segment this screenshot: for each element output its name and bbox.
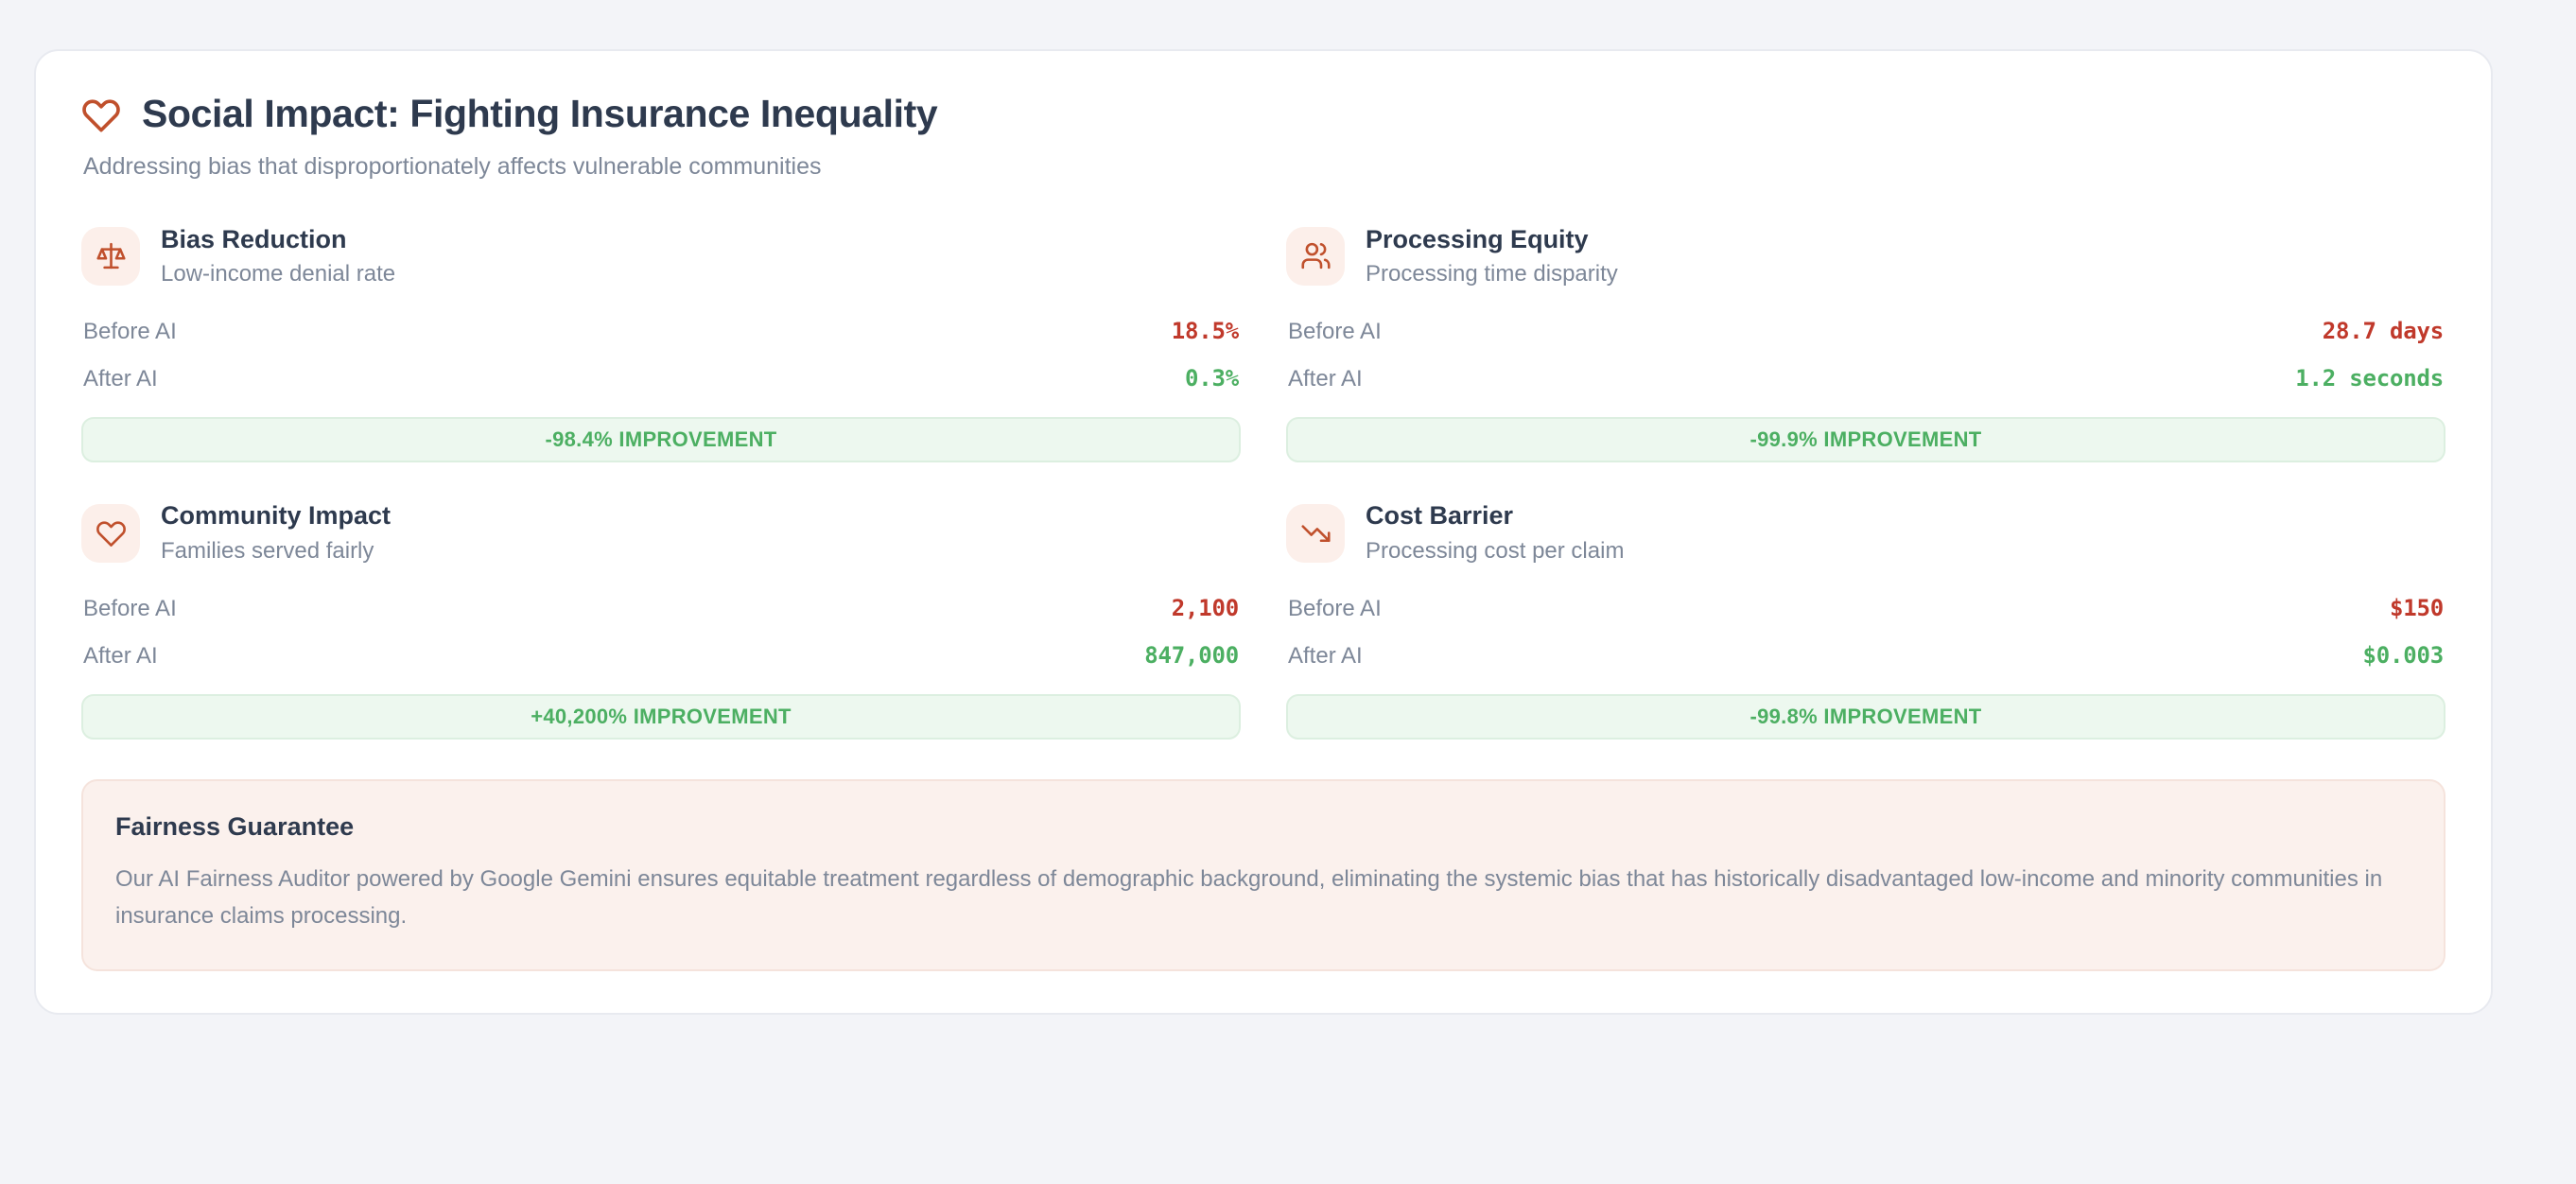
metric-row-before: Before AI 18.5% bbox=[81, 313, 1241, 350]
metric-card-processing-equity: Processing Equity Processing time dispar… bbox=[1286, 224, 2445, 463]
metric-title: Bias Reduction bbox=[161, 225, 395, 255]
metric-title: Community Impact bbox=[161, 501, 391, 531]
users-icon bbox=[1300, 240, 1332, 271]
metric-header: Cost Barrier Processing cost per claim bbox=[1286, 500, 2445, 566]
panel-header: Social Impact: Fighting Insurance Inequa… bbox=[81, 93, 2445, 135]
improvement-badge: +40,200% IMPROVEMENT bbox=[81, 694, 1241, 740]
metric-row-after: After AI 0.3% bbox=[81, 360, 1241, 397]
improvement-badge: -99.9% IMPROVEMENT bbox=[1286, 417, 2445, 462]
before-label: Before AI bbox=[1288, 319, 1382, 345]
metric-row-before: Before AI $150 bbox=[1286, 590, 2445, 627]
social-impact-panel: Social Impact: Fighting Insurance Inequa… bbox=[34, 49, 2493, 1015]
trending-down-icon bbox=[1300, 517, 1332, 548]
metric-subtitle: Processing cost per claim bbox=[1366, 538, 1624, 566]
metrics-grid: Bias Reduction Low-income denial rate Be… bbox=[81, 224, 2445, 740]
before-value: 18.5% bbox=[1172, 318, 1239, 344]
metric-subtitle: Processing time disparity bbox=[1366, 261, 1618, 288]
before-value: 28.7 days bbox=[2323, 318, 2444, 344]
heart-outline-icon bbox=[81, 95, 121, 134]
after-label: After AI bbox=[1288, 366, 1363, 392]
improvement-badge: -98.4% IMPROVEMENT bbox=[81, 417, 1241, 462]
after-value: 1.2 seconds bbox=[2295, 365, 2444, 392]
metric-row-after: After AI $0.003 bbox=[1286, 637, 2445, 674]
metric-labels: Bias Reduction Low-income denial rate bbox=[161, 224, 395, 289]
before-label: Before AI bbox=[83, 596, 177, 622]
metric-subtitle: Low-income denial rate bbox=[161, 261, 395, 288]
metric-icon-tile bbox=[81, 504, 140, 563]
metric-row-after: After AI 847,000 bbox=[81, 637, 1241, 674]
after-value: 847,000 bbox=[1144, 642, 1239, 669]
metric-title: Cost Barrier bbox=[1366, 501, 1624, 531]
before-value: 2,100 bbox=[1172, 595, 1239, 621]
metric-header: Processing Equity Processing time dispar… bbox=[1286, 224, 2445, 289]
metric-row-before: Before AI 28.7 days bbox=[1286, 313, 2445, 350]
metric-row-before: Before AI 2,100 bbox=[81, 590, 1241, 627]
after-value: 0.3% bbox=[1185, 365, 1239, 392]
metric-card-bias-reduction: Bias Reduction Low-income denial rate Be… bbox=[81, 224, 1241, 463]
before-value: $150 bbox=[2390, 595, 2444, 621]
fairness-guarantee-text: Our AI Fairness Auditor powered by Googl… bbox=[115, 862, 2411, 935]
metric-icon-tile bbox=[1286, 504, 1345, 563]
metric-labels: Processing Equity Processing time dispar… bbox=[1366, 224, 1618, 289]
metric-rows: Before AI 28.7 days After AI 1.2 seconds bbox=[1286, 313, 2445, 397]
after-label: After AI bbox=[83, 366, 158, 392]
metric-subtitle: Families served fairly bbox=[161, 538, 391, 566]
panel-subtitle: Addressing bias that disproportionately … bbox=[83, 151, 2445, 183]
metric-row-after: After AI 1.2 seconds bbox=[1286, 360, 2445, 397]
after-label: After AI bbox=[83, 643, 158, 670]
metric-header: Community Impact Families served fairly bbox=[81, 500, 1241, 566]
metric-rows: Before AI 18.5% After AI 0.3% bbox=[81, 313, 1241, 397]
heart-outline-icon bbox=[96, 517, 127, 548]
before-label: Before AI bbox=[1288, 596, 1382, 622]
metric-icon-tile bbox=[81, 227, 140, 286]
metric-header: Bias Reduction Low-income denial rate bbox=[81, 224, 1241, 289]
improvement-badge: -99.8% IMPROVEMENT bbox=[1286, 694, 2445, 740]
page-title: Social Impact: Fighting Insurance Inequa… bbox=[142, 93, 937, 135]
metric-labels: Community Impact Families served fairly bbox=[161, 500, 391, 566]
after-value: $0.003 bbox=[2363, 642, 2445, 669]
before-label: Before AI bbox=[83, 319, 177, 345]
page-root: Social Impact: Fighting Insurance Inequa… bbox=[0, 0, 2576, 1184]
fairness-guarantee-title: Fairness Guarantee bbox=[115, 811, 2411, 842]
after-label: After AI bbox=[1288, 643, 1363, 670]
metric-rows: Before AI $150 After AI $0.003 bbox=[1286, 590, 2445, 674]
metric-card-community-impact: Community Impact Families served fairly … bbox=[81, 500, 1241, 740]
metric-icon-tile bbox=[1286, 227, 1345, 286]
metric-title: Processing Equity bbox=[1366, 225, 1618, 255]
metric-labels: Cost Barrier Processing cost per claim bbox=[1366, 500, 1624, 566]
fairness-guarantee-callout: Fairness Guarantee Our AI Fairness Audit… bbox=[81, 779, 2445, 971]
scales-balance-icon bbox=[96, 240, 127, 271]
metric-card-cost-barrier: Cost Barrier Processing cost per claim B… bbox=[1286, 500, 2445, 740]
metric-rows: Before AI 2,100 After AI 847,000 bbox=[81, 590, 1241, 674]
